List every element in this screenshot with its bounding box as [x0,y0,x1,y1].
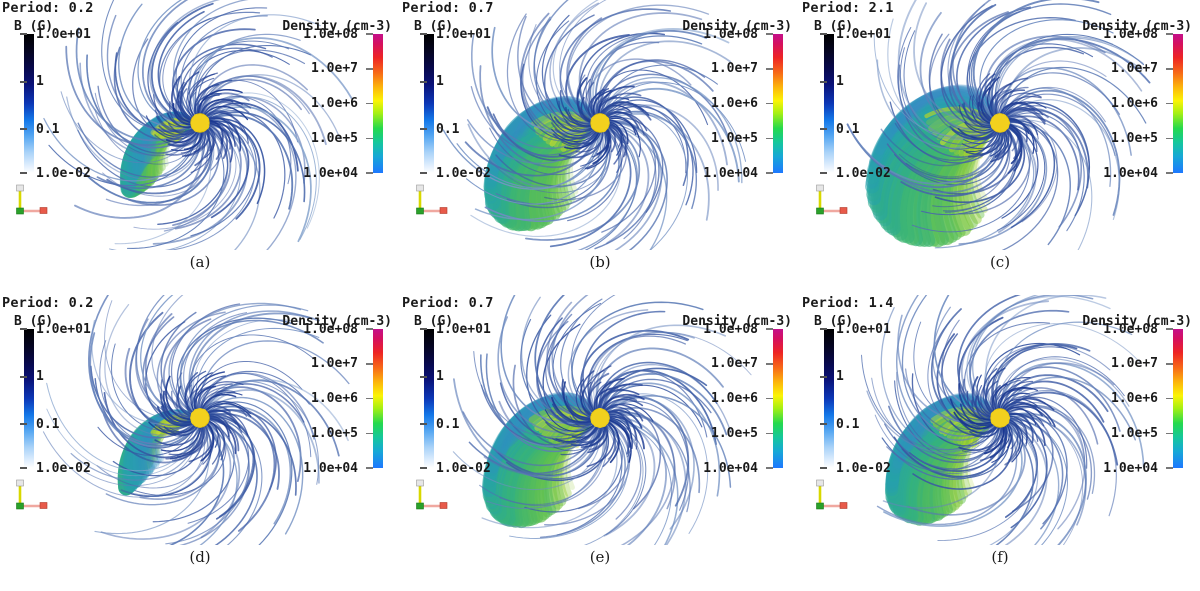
b-tick-mark [820,128,827,130]
density-colorbar-a [373,34,383,173]
density-tick-mark [366,68,373,70]
b-tick-label: 1 [436,75,444,88]
density-colorbar-ticks-d: 1.0e+081.0e+71.0e+61.0e+51.0e+04 [253,329,373,468]
density-tick-label: 1.0e+7 [1111,357,1158,370]
central-star [591,113,610,132]
period-title-d: Period: 0.2 [2,295,94,311]
b-tick-label: 1.0e-02 [36,462,91,475]
density-tick-label: 1.0e+08 [1103,28,1158,41]
panel-c: Period: 2.1B (G)Density (cm-3)1.0e+0110.… [800,0,1200,295]
b-tick-label: 1 [36,370,44,383]
density-tick-label: 1.0e+5 [711,132,758,145]
density-tick-mark [766,328,773,330]
panel-b: Period: 0.7B (G)Density (cm-3)1.0e+0110.… [400,0,800,295]
density-colorbar-f [1173,329,1183,468]
density-tick-label: 1.0e+6 [711,97,758,110]
density-tick-mark [766,103,773,105]
b-tick-mark [820,81,827,83]
axis-x-label-box [840,503,847,509]
b-tick-mark [20,328,27,330]
b-field-colorbar-ticks-d: 1.0e+0110.11.0e-02 [14,329,134,468]
star-rim-blob [204,412,209,417]
star-rim-blob [203,117,209,123]
density-tick-label: 1.0e+6 [311,392,358,405]
b-tick-label: 1.0e+01 [36,28,91,41]
density-tick-label: 1.0e+7 [1111,62,1158,75]
b-field-colorbar-ticks-a: 1.0e+0110.11.0e-02 [14,34,134,173]
density-tick-mark [766,433,773,435]
axis-z-label-box [817,503,824,509]
axis-triad-svg [810,478,850,512]
density-tick-mark [1166,172,1173,174]
density-tick-mark [766,138,773,140]
star-rim-blob [604,412,609,417]
b-tick-mark [420,81,427,83]
panel-caption-b: (b) [400,253,800,271]
period-title-e: Period: 0.7 [402,295,494,311]
axis-triad-svg [810,183,850,217]
axis-y-label-box [817,480,824,486]
density-tick-label: 1.0e+04 [303,167,358,180]
orientation-axes [817,185,848,214]
b-tick-label: 1.0e-02 [836,462,891,475]
b-tick-mark [420,33,427,35]
orientation-axes [417,480,448,509]
density-colorbar-ticks-b: 1.0e+081.0e+71.0e+61.0e+51.0e+04 [653,34,773,173]
panel-d: Period: 0.2B (G)Density (cm-3)1.0e+0110.… [0,295,400,590]
b-tick-label: 0.1 [36,123,59,136]
axis-triad-svg [10,478,50,512]
density-tick-label: 1.0e+5 [1111,427,1158,440]
density-colorbar-ticks-a: 1.0e+081.0e+71.0e+61.0e+51.0e+04 [253,34,373,173]
axis-triad-e [410,478,450,512]
density-tick-label: 1.0e+04 [703,462,758,475]
density-tick-mark [366,103,373,105]
density-colorbar-e [773,329,783,468]
b-tick-mark [20,376,27,378]
axis-triad-f [810,478,850,512]
b-tick-label: 1 [436,370,444,383]
density-colorbar-b [773,34,783,173]
b-tick-mark [820,33,827,35]
b-tick-label: 1.0e+01 [436,28,491,41]
axis-y-label-box [417,480,424,486]
b-tick-label: 1.0e-02 [836,167,891,180]
star-rim-blob [201,127,206,132]
central-star [191,114,210,133]
density-tick-mark [366,467,373,469]
density-tick-label: 1.0e+6 [1111,392,1158,405]
density-tick-label: 1.0e+5 [711,427,758,440]
b-tick-mark [420,467,427,469]
density-tick-label: 1.0e+08 [703,28,758,41]
b-tick-label: 0.1 [36,418,59,431]
panel-a: Period: 0.2B (G)Density (cm-3)1.0e+0110.… [0,0,400,295]
orientation-axes [17,480,48,509]
b-tick-label: 0.1 [436,123,459,136]
axis-triad-b [410,183,450,217]
density-colorbar-ticks-f: 1.0e+081.0e+71.0e+61.0e+51.0e+04 [1053,329,1173,468]
b-tick-mark [420,328,427,330]
density-tick-mark [766,398,773,400]
period-title-a: Period: 0.2 [2,0,94,16]
b-tick-mark [420,128,427,130]
b-tick-label: 1.0e+01 [836,28,891,41]
density-tick-label: 1.0e+04 [703,167,758,180]
panel-e: Period: 0.7B (G)Density (cm-3)1.0e+0110.… [400,295,800,590]
b-tick-mark [20,423,27,425]
panel-caption-f: (f) [800,548,1200,566]
axis-z-label-box [417,503,424,509]
axis-triad-svg [10,183,50,217]
density-tick-label: 1.0e+7 [311,62,358,75]
density-tick-mark [766,172,773,174]
period-title-f: Period: 1.4 [802,295,894,311]
density-tick-label: 1.0e+04 [1103,462,1158,475]
axis-x-label-box [840,208,847,214]
central-star [991,409,1011,427]
axis-triad-d [10,478,50,512]
density-tick-label: 1.0e+5 [311,427,358,440]
b-tick-mark [820,328,827,330]
density-tick-label: 1.0e+6 [311,97,358,110]
density-tick-mark [1166,328,1173,330]
density-colorbar-ticks-e: 1.0e+081.0e+71.0e+61.0e+51.0e+04 [653,329,773,468]
density-tick-mark [366,172,373,174]
density-colorbar-c [1173,34,1183,173]
axis-x-label-box [40,208,47,214]
density-tick-label: 1.0e+04 [303,462,358,475]
b-tick-label: 0.1 [836,123,859,136]
b-tick-mark [20,467,27,469]
b-tick-label: 0.1 [436,418,459,431]
b-tick-mark [820,172,827,174]
orientation-axes [417,185,448,214]
density-tick-mark [766,68,773,70]
b-tick-mark [20,172,27,174]
b-tick-label: 1.0e+01 [436,323,491,336]
star-rim-blob [1004,412,1009,417]
axis-triad-svg [410,183,450,217]
b-field-colorbar-ticks-f: 1.0e+0110.11.0e-02 [814,329,934,468]
star-rim-blob [1004,117,1008,121]
panel-caption-d: (d) [0,548,400,566]
axis-triad-a [10,183,50,217]
axis-triad-c [810,183,850,217]
b-tick-label: 1.0e-02 [436,167,491,180]
axis-x-label-box [440,208,447,214]
star-rim-blob [603,117,609,123]
density-tick-label: 1.0e+7 [711,62,758,75]
density-tick-label: 1.0e+08 [1103,323,1158,336]
density-tick-mark [366,328,373,330]
density-tick-label: 1.0e+6 [711,392,758,405]
axis-y-label-box [17,185,24,191]
b-tick-label: 1.0e+01 [36,323,91,336]
axis-y-label-box [417,185,424,191]
b-tick-mark [420,172,427,174]
b-tick-label: 1 [36,75,44,88]
density-tick-label: 1.0e+5 [1111,132,1158,145]
b-tick-label: 0.1 [836,418,859,431]
b-tick-mark [20,81,27,83]
density-tick-mark [1166,363,1173,365]
density-tick-label: 1.0e+7 [311,357,358,370]
density-tick-mark [1166,68,1173,70]
density-tick-mark [366,138,373,140]
figure-root: Period: 0.2B (G)Density (cm-3)1.0e+0110.… [0,0,1200,591]
density-tick-label: 1.0e+7 [711,357,758,370]
density-tick-mark [1166,467,1173,469]
orientation-axes [17,185,48,214]
density-tick-mark [766,467,773,469]
density-tick-label: 1.0e+6 [1111,97,1158,110]
b-tick-mark [20,33,27,35]
star-rim-blob [598,128,603,133]
b-tick-mark [820,376,827,378]
b-tick-mark [420,423,427,425]
density-colorbar-d [373,329,383,468]
panel-caption-a: (a) [0,253,400,271]
density-tick-mark [1166,33,1173,35]
b-field-colorbar-ticks-c: 1.0e+0110.11.0e-02 [814,34,934,173]
b-field-colorbar-ticks-b: 1.0e+0110.11.0e-02 [414,34,534,173]
axis-triad-svg [410,478,450,512]
density-tick-label: 1.0e+08 [303,323,358,336]
axis-z-label-box [17,208,24,214]
density-tick-mark [766,363,773,365]
density-tick-mark [366,398,373,400]
density-tick-mark [1166,138,1173,140]
density-tick-label: 1.0e+08 [703,323,758,336]
axis-y-label-box [17,480,24,486]
b-tick-label: 1 [836,75,844,88]
b-tick-label: 1.0e-02 [36,167,91,180]
b-tick-label: 1.0e-02 [436,462,491,475]
axis-x-label-box [40,503,47,509]
density-colorbar-ticks-c: 1.0e+081.0e+71.0e+61.0e+51.0e+04 [1053,34,1173,173]
b-tick-mark [820,423,827,425]
b-tick-mark [420,376,427,378]
period-title-b: Period: 0.7 [402,0,494,16]
density-tick-mark [366,433,373,435]
density-tick-label: 1.0e+04 [1103,167,1158,180]
axis-z-label-box [817,208,824,214]
density-tick-label: 1.0e+08 [303,28,358,41]
density-tick-mark [366,33,373,35]
density-tick-mark [1166,103,1173,105]
period-title-c: Period: 2.1 [802,0,894,16]
density-tick-mark [766,33,773,35]
panel-caption-e: (e) [400,548,800,566]
panel-f: Period: 1.4B (G)Density (cm-3)1.0e+0110.… [800,295,1200,590]
axis-z-label-box [17,503,24,509]
axis-z-label-box [417,208,424,214]
b-tick-label: 1 [836,370,844,383]
b-tick-mark [820,467,827,469]
density-tick-mark [1166,398,1173,400]
axis-y-label-box [817,185,824,191]
density-tick-label: 1.0e+5 [311,132,358,145]
density-tick-mark [1166,433,1173,435]
panel-caption-c: (c) [800,253,1200,271]
b-field-colorbar-ticks-e: 1.0e+0110.11.0e-02 [414,329,534,468]
b-tick-mark [20,128,27,130]
b-tick-label: 1.0e+01 [836,323,891,336]
orientation-axes [817,480,848,509]
axis-x-label-box [440,503,447,509]
density-tick-mark [366,363,373,365]
